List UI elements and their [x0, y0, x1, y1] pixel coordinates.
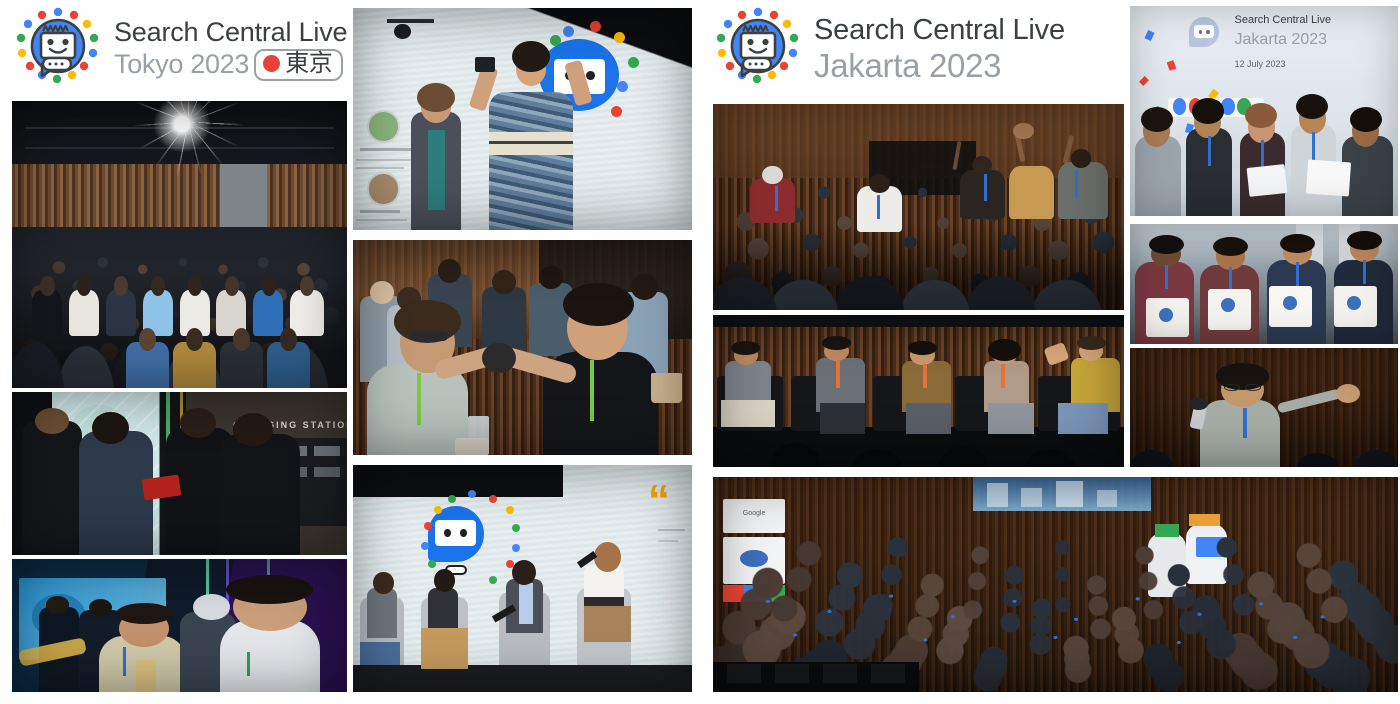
- jakarta-logo-line2: Jakarta 2023: [814, 47, 1065, 85]
- tokyo-logo-line1: Search Central Live: [114, 17, 347, 48]
- search-central-mascot-logo: [712, 6, 804, 92]
- photo-tokyo-audience-group: [12, 101, 347, 388]
- tokyo-logo-line2: Tokyo 2023 東京: [114, 48, 347, 81]
- jakarta-logo-line1: Search Central Live: [814, 14, 1065, 47]
- japan-flag-icon: [263, 55, 280, 72]
- photo-tokyo-yukata-speaker: [353, 8, 692, 230]
- photo-jakarta-question-mic: [1130, 348, 1398, 467]
- collage-canvas: Search Central Live Tokyo 2023 東京: [0, 0, 1400, 704]
- tokyo-logo-lockup: Search Central Live Tokyo 2023 東京: [12, 8, 352, 90]
- japan-badge-label: 東京: [285, 51, 332, 77]
- photo-tokyo-networking-drinks: [12, 559, 347, 692]
- photo-tokyo-heart-hands: [353, 240, 692, 455]
- search-central-mascot-logo: [12, 6, 104, 92]
- photo-jakarta-swag-bags: [1130, 224, 1398, 344]
- tokyo-logo-city-year: Tokyo 2023: [114, 48, 249, 81]
- photo-jakarta-group-photo: Google: [713, 477, 1398, 692]
- jakarta-logo-lockup: Search Central Live Jakarta 2023: [712, 8, 1052, 90]
- photo-jakarta-audience-waving: [713, 104, 1124, 310]
- japan-badge: 東京: [254, 49, 342, 81]
- photo-tokyo-panel-stage: “: [353, 465, 692, 692]
- photo-tokyo-charging-station: CHARGING STATION: [12, 392, 347, 555]
- photo-jakarta-stage-banner: Search Central Live Jakarta 2023 12 July…: [1130, 6, 1398, 216]
- photo-jakarta-panel-sofa: [713, 315, 1124, 467]
